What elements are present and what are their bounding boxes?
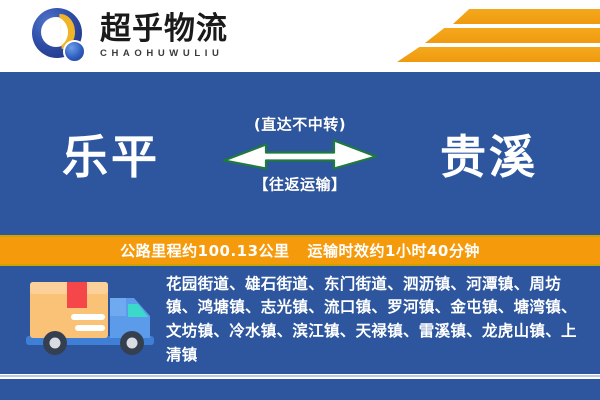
footer-divider (0, 374, 600, 378)
speed-stripes-icon (325, 8, 600, 64)
round-trip-note: 【往返运输】 (200, 173, 400, 194)
route-info-band: 公路里程约100.13公里 运输时效约1小时40分钟 (0, 235, 600, 266)
poster-footer (0, 379, 600, 400)
delivery-truck-icon (22, 274, 162, 366)
destination-city: 贵溪 (440, 121, 538, 187)
direct-service-note: (直达不中转) (200, 113, 400, 134)
coverage-panel: 花园街道、雄石街道、东门街道、泗沥镇、河潭镇、周坊镇、鸿塘镇、志光镇、流口镇、罗… (0, 266, 600, 374)
route-info-inner: 公路里程约100.13公里 运输时效约1小时40分钟 (120, 240, 480, 261)
route-middle-block: (直达不中转) 【往返运输】 (200, 113, 400, 194)
origin-city: 乐平 (62, 121, 160, 187)
brand-logo: 超乎物流 CHAOHUWULIU (30, 4, 228, 68)
brand-name-en: CHAOHUWULIU (100, 48, 228, 59)
circle-crescent-logo-icon (30, 6, 92, 66)
brand-name-cn: 超乎物流 (100, 13, 228, 46)
poster-header: 超乎物流 CHAOHUWULIU (0, 0, 600, 72)
brand-text-block: 超乎物流 CHAOHUWULIU (100, 13, 228, 60)
duration-label: 运输时效约1小时40分钟 (308, 240, 480, 261)
logistics-route-poster: 超乎物流 CHAOHUWULIU 乐平 (直达不中转) 【往返运输】 贵溪 公路 (0, 0, 600, 400)
stripe-top (453, 9, 600, 24)
stripe-middle (425, 28, 600, 43)
logo-accent-dot (63, 40, 86, 63)
route-panel: 乐平 (直达不中转) 【往返运输】 贵溪 (0, 72, 600, 235)
coverage-areas-text: 花园街道、雄石街道、东门街道、泗沥镇、河潭镇、周坊镇、鸿塘镇、志光镇、流口镇、罗… (162, 273, 600, 367)
stripe-bottom (397, 47, 600, 62)
distance-label: 公路里程约100.13公里 (120, 240, 289, 261)
double-arrow-icon (222, 136, 378, 170)
